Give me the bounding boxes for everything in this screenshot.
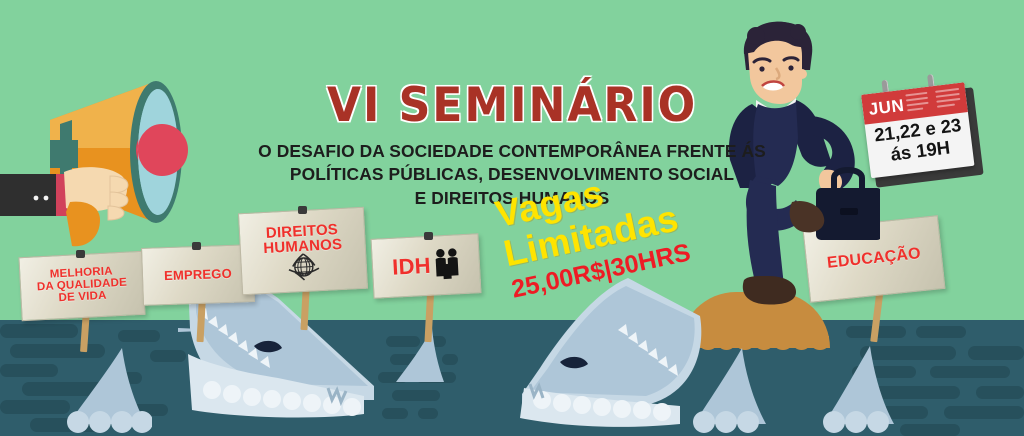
un-emblem-icon xyxy=(286,251,322,283)
page-title: VI SEMINÁRIO xyxy=(31,78,994,133)
calendar-grid-lines xyxy=(905,86,964,117)
sign-board: EMPREGO xyxy=(141,244,255,306)
event-date-calendar: JUN 21,22 e 23 ás 19H xyxy=(861,82,979,183)
water-ripple xyxy=(930,366,1010,378)
sign-clip xyxy=(424,232,433,240)
sign-label: MELHORIA DA QUALIDADE DE VIDA xyxy=(36,266,128,306)
water-ripple xyxy=(944,406,1024,419)
calendar-month: JUN xyxy=(868,96,906,120)
sign-label: EMPREGO xyxy=(164,267,232,283)
family-icon xyxy=(433,247,461,282)
water-ripple xyxy=(0,364,58,377)
sign-label: DIREITOS HUMANOS xyxy=(262,222,342,257)
sign-direitos-humanos[interactable]: DIREITOS HUMANOS xyxy=(240,206,370,326)
sign-board: IDH xyxy=(371,233,482,299)
water-ripple xyxy=(900,424,960,436)
sign-label: IDH xyxy=(392,255,432,279)
water-ripple xyxy=(968,346,1024,360)
sign-board: DIREITOS HUMANOS xyxy=(238,207,368,295)
sign-idh[interactable]: IDH xyxy=(372,232,484,342)
sign-melhoria[interactable]: MELHORIA DA QUALIDADE DE VIDA xyxy=(20,248,150,352)
fin-right-2 xyxy=(820,346,900,436)
sign-board: MELHORIA DA QUALIDADE DE VIDA xyxy=(18,251,145,321)
calendar-body: JUN 21,22 e 23 ás 19H xyxy=(861,82,974,178)
water-ripple xyxy=(0,400,70,414)
fin-right-1 xyxy=(690,348,770,436)
seminar-poster: MELHORIA DA QUALIDADE DE VIDA EMPREGO DI… xyxy=(0,0,1024,436)
fin-far-left xyxy=(62,348,152,436)
water-ripple xyxy=(976,386,1024,399)
